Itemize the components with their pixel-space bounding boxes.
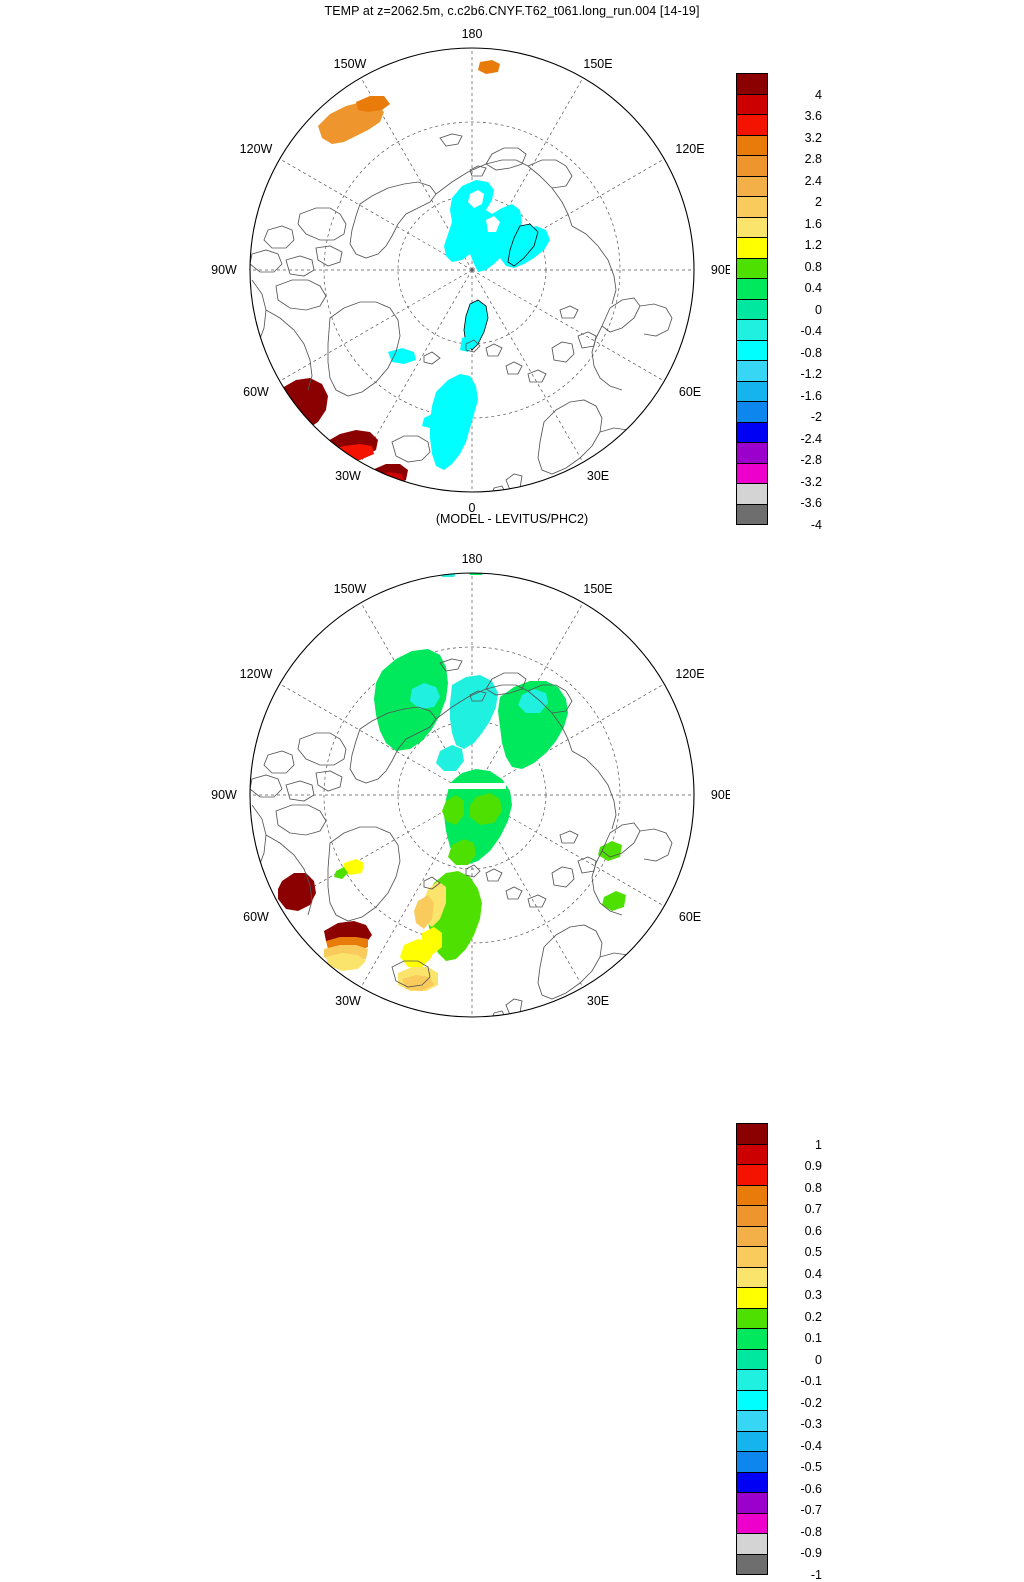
- map-panel-difference: 180 150W 120W 90W 60W 30W 0 30E 60E 90E …: [0, 545, 730, 1025]
- colorbar-band: [736, 1390, 768, 1412]
- lon-label-90E: 90E: [711, 263, 730, 277]
- colorbar-band: [736, 278, 768, 300]
- lon-label-90W: 90W: [211, 788, 237, 802]
- colorbar-band: [736, 422, 768, 444]
- colorbar-band: [736, 1472, 768, 1494]
- colorbar-tick-label: -3.6: [774, 497, 822, 509]
- colorbar-band: [736, 1513, 768, 1535]
- figure-root: TEMP at z=2062.5m, c.c2b6.CNYF.T62_t061.…: [0, 0, 1024, 1024]
- colorbar-band: [736, 1451, 768, 1473]
- colorbar-tick-label: 0.1: [774, 1332, 822, 1344]
- lon-label-90E: 90E: [711, 788, 730, 802]
- colorbar-tick-label: -0.4: [774, 325, 822, 337]
- colorbar-band: [736, 258, 768, 280]
- colorbar-tick-label: 0.6: [774, 1225, 822, 1237]
- colorbar-tick-label: 3.6: [774, 110, 822, 122]
- colorbar-tick-label: -2.8: [774, 454, 822, 466]
- colorbar-tick-label: 0.2: [774, 1311, 822, 1323]
- colorbar-band: [736, 1144, 768, 1166]
- colorbar-band: [736, 1410, 768, 1432]
- figure-subtitle: (MODEL - LEVITUS/PHC2): [0, 512, 1024, 526]
- colorbar-tick-label: -1.2: [774, 368, 822, 380]
- lon-label-90W: 90W: [211, 263, 237, 277]
- colorbar-tick-label: 0.4: [774, 1268, 822, 1280]
- colorbar-tick-label: 0.7: [774, 1203, 822, 1215]
- colorbar-band: [736, 217, 768, 239]
- colorbar-tick-label: -2: [774, 411, 822, 423]
- colorbar-tick-label: -0.7: [774, 1504, 822, 1516]
- colorbar-tick-label: 2.4: [774, 175, 822, 187]
- colorbar-band: [736, 1431, 768, 1453]
- colorbar-strip-2: [736, 1123, 768, 1575]
- polar-map-2-svg: 180 150W 120W 90W 60W 30W 0 30E 60E 90E …: [0, 545, 730, 1025]
- colorbar-band: [736, 381, 768, 403]
- colorbar-tick-label: -3.2: [774, 476, 822, 488]
- colorbar-band: [736, 196, 768, 218]
- lon-label-150E: 150E: [583, 57, 612, 71]
- colorbar-tick-label: -0.8: [774, 1526, 822, 1538]
- lon-label-180: 180: [462, 552, 483, 566]
- colorbar-tick-label: -0.4: [774, 1440, 822, 1452]
- colorbar-tick-label: 4: [774, 89, 822, 101]
- colorbar-band: [736, 1185, 768, 1207]
- lon-label-150E: 150E: [583, 582, 612, 596]
- colorbar-band: [736, 1287, 768, 1309]
- lon-label-30E: 30E: [587, 994, 609, 1008]
- colorbar-tick-label: 0.3: [774, 1289, 822, 1301]
- colorbar-band: [736, 1533, 768, 1555]
- colorbar-band: [736, 176, 768, 198]
- colorbar-tick-label: 0.5: [774, 1246, 822, 1258]
- lon-label-60W: 60W: [243, 385, 269, 399]
- colorbar-tick-label: -0.3: [774, 1418, 822, 1430]
- map-panel-model: 180 150W 120W 90W 60W 30W 0 30E 60E 90E …: [0, 18, 730, 518]
- colorbar-tick-label: 0.9: [774, 1160, 822, 1172]
- lon-label-30E: 30E: [587, 469, 609, 483]
- colorbar-band: [736, 442, 768, 464]
- colorbar-tick-label: -1.6: [774, 390, 822, 402]
- colorbar-tick-label: -0.2: [774, 1397, 822, 1409]
- colorbar-tick-label: 0: [774, 1354, 822, 1366]
- colorbar-band: [736, 73, 768, 95]
- colorbar-strip-1: [736, 73, 768, 525]
- colorbar-band: [736, 237, 768, 259]
- colorbar-tick-label: 0.4: [774, 282, 822, 294]
- lon-label-120W: 120W: [240, 142, 273, 156]
- polar-map-1-svg: 180 150W 120W 90W 60W 30W 0 30E 60E 90E …: [0, 18, 730, 518]
- colorbar-band: [736, 1492, 768, 1514]
- colorbar-band: [736, 114, 768, 136]
- colorbar-band: [736, 155, 768, 177]
- lon-label-60W: 60W: [243, 910, 269, 924]
- figure-title: TEMP at z=2062.5m, c.c2b6.CNYF.T62_t061.…: [0, 4, 1024, 18]
- colorbar-tick-label: -0.9: [774, 1547, 822, 1559]
- lon-label-120E: 120E: [675, 667, 704, 681]
- colorbar-band: [736, 1349, 768, 1371]
- colorbar-tick-label: 0.8: [774, 261, 822, 273]
- colorbar-tick-label: -0.5: [774, 1461, 822, 1473]
- colorbar-band: [736, 1554, 768, 1576]
- lon-label-150W: 150W: [334, 57, 367, 71]
- lon-label-150W: 150W: [334, 582, 367, 596]
- colorbar-band: [736, 360, 768, 382]
- colorbar-tick-label: 1: [774, 1139, 822, 1151]
- colorbar-band: [736, 340, 768, 362]
- colorbar-band: [736, 1267, 768, 1289]
- colorbar-tick-label: -0.1: [774, 1375, 822, 1387]
- colorbar-band: [736, 319, 768, 341]
- colorbar-band: [736, 1226, 768, 1248]
- colorbar-tick-label: 1.6: [774, 218, 822, 230]
- colorbar-band: [736, 1205, 768, 1227]
- colorbar-band: [736, 1308, 768, 1330]
- colorbar-band: [736, 299, 768, 321]
- colorbar-band: [736, 1246, 768, 1268]
- lon-label-180: 180: [462, 27, 483, 41]
- colorbar-tick-label: -0.8: [774, 347, 822, 359]
- polar-map-1: 180 150W 120W 90W 60W 30W 0 30E 60E 90E …: [0, 18, 730, 518]
- colorbar-band: [736, 1123, 768, 1145]
- colorbar-band: [736, 1369, 768, 1391]
- colorbar-tick-label: 3.2: [774, 132, 822, 144]
- colorbar-tick-label: 1.2: [774, 239, 822, 251]
- colorbar-band: [736, 135, 768, 157]
- colorbar-tick-label: 0.8: [774, 1182, 822, 1194]
- colorbar-tick-label: 0: [774, 304, 822, 316]
- lon-label-120W: 120W: [240, 667, 273, 681]
- lon-label-60E: 60E: [679, 910, 701, 924]
- colorbar-tick-label: -2.4: [774, 433, 822, 445]
- lon-label-120E: 120E: [675, 142, 704, 156]
- colorbar-band: [736, 94, 768, 116]
- colorbar-tick-label: 2: [774, 196, 822, 208]
- polar-map-2: 180 150W 120W 90W 60W 30W 0 30E 60E 90E …: [0, 545, 730, 1025]
- colorbar-tick-label: -1: [774, 1569, 822, 1581]
- lon-label-30W: 30W: [335, 994, 361, 1008]
- colorbar-band: [736, 1328, 768, 1350]
- data-regions-1: [278, 60, 550, 488]
- colorbar-tick-label: 2.8: [774, 153, 822, 165]
- lon-label-60E: 60E: [679, 385, 701, 399]
- colorbar-band: [736, 401, 768, 423]
- lon-label-30W: 30W: [335, 469, 361, 483]
- colorbar-tick-label: -0.6: [774, 1483, 822, 1495]
- colorbar-band: [736, 463, 768, 485]
- colorbar-band: [736, 1164, 768, 1186]
- colorbar-band: [736, 483, 768, 505]
